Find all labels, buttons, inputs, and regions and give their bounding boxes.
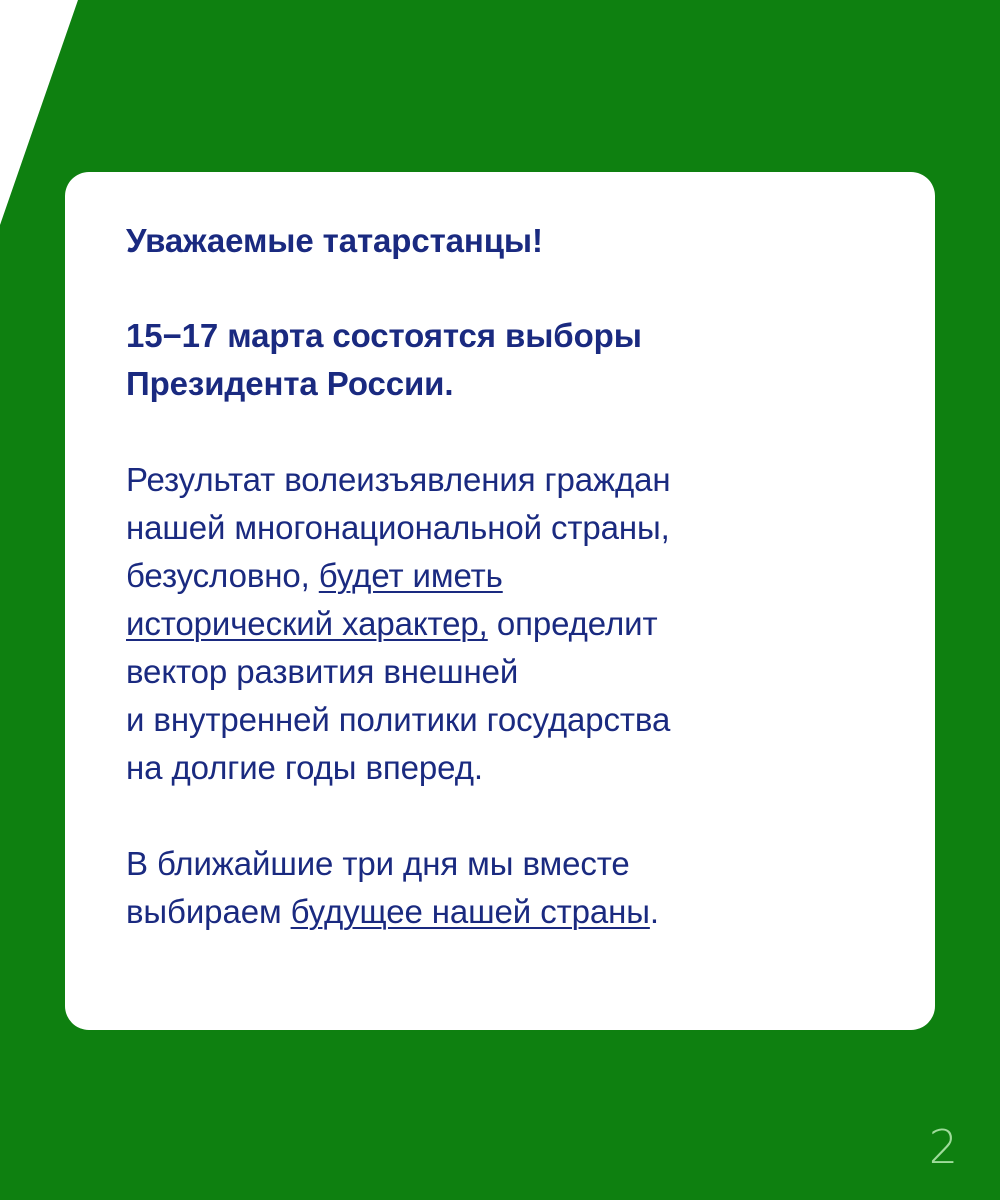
paragraph-two-underlined-phrase: будущее нашей страны (291, 893, 650, 930)
slide-canvas: Уважаемые татарстанцы! 15−17 марта состо… (0, 0, 1000, 1200)
page-number: 2 (929, 1124, 958, 1170)
greeting-heading: Уважаемые татарстанцы! (126, 218, 886, 264)
paragraph-two-tail: . (650, 893, 659, 930)
election-dates-subheading: 15−17 марта состоятся выборы Президента … (126, 312, 886, 408)
card-text-block: Уважаемые татарстанцы! 15−17 марта состо… (126, 218, 886, 936)
spacer-after-subheading (126, 408, 886, 456)
paragraph-one: Результат волеизъявления граждан нашей м… (126, 456, 886, 792)
paragraph-two: В ближайшие три дня мы вместе выбираем б… (126, 840, 886, 936)
spacer-after-paragraph-one (126, 792, 886, 840)
spacer-after-heading (126, 264, 886, 312)
